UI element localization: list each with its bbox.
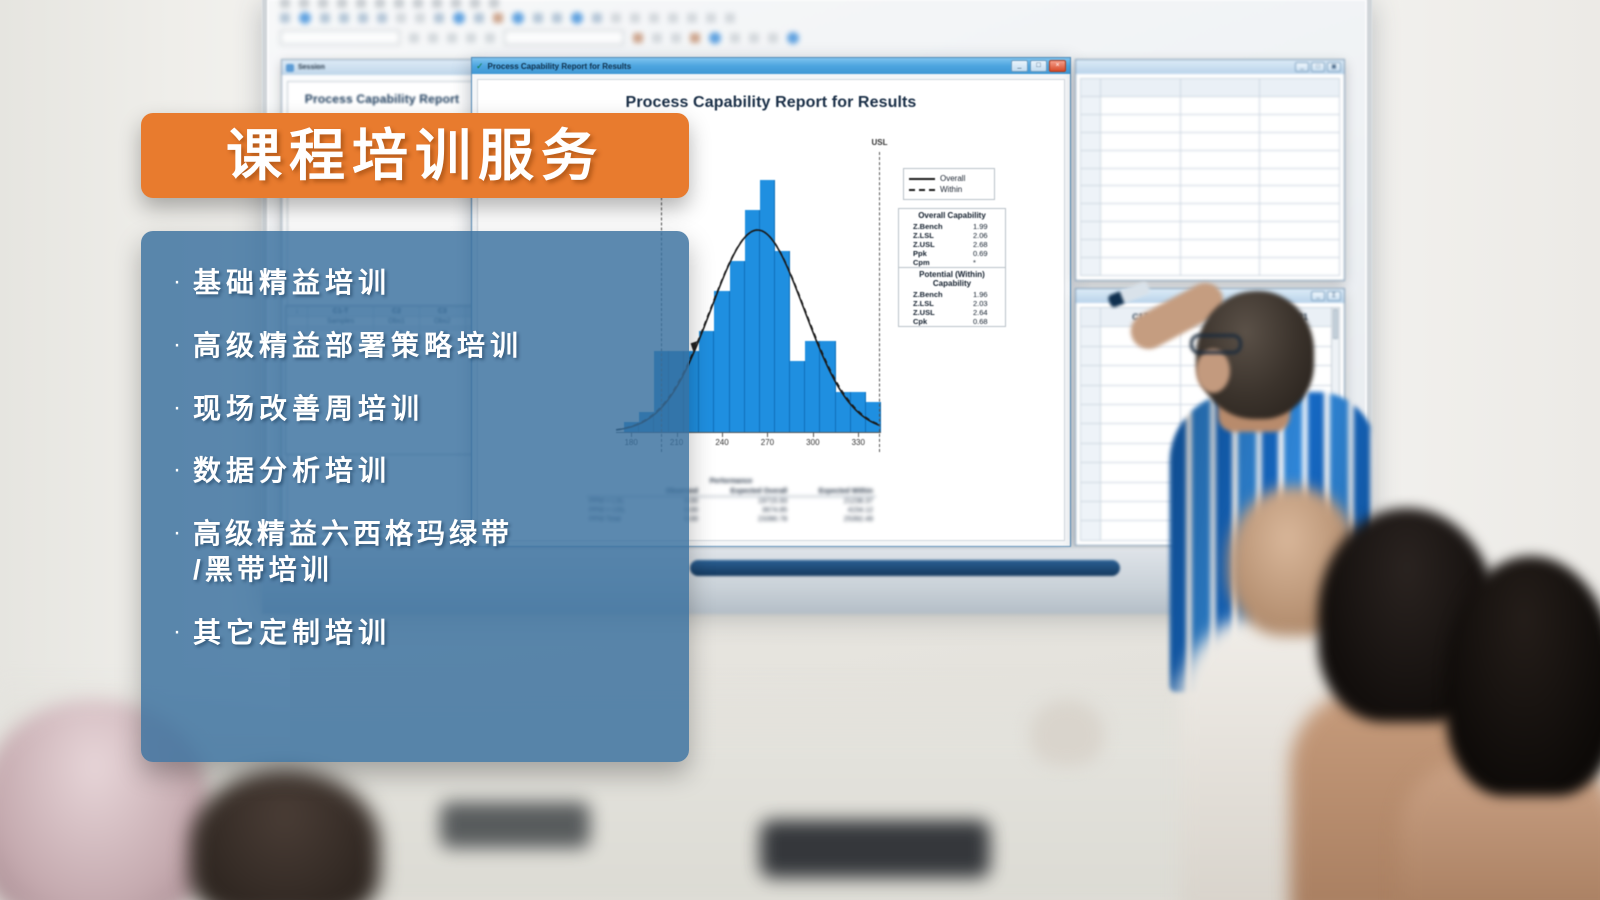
course-banner: 课程培训服务 <box>141 113 689 198</box>
capability-value: * <box>973 258 999 267</box>
ws-cell[interactable] <box>1180 150 1260 168</box>
capability-value: 2.64 <box>973 308 999 317</box>
checkmark-icon: ✓ <box>476 62 484 71</box>
legend-line-icon <box>909 189 935 191</box>
toolbar-dropdown-1[interactable] <box>280 30 400 45</box>
capability-row: Z.Bench 1.96 <box>899 290 1005 299</box>
cup-object <box>1030 700 1104 766</box>
bullet-icon: · <box>173 453 181 487</box>
ws-row[interactable] <box>1081 96 1340 114</box>
ws-row[interactable] <box>1081 222 1340 240</box>
list-item-label: 基础精益培训 <box>193 265 391 301</box>
ws-cell[interactable] <box>1180 114 1260 132</box>
graph-window-title: Process Capability Report for Results <box>488 62 632 71</box>
ws-cell[interactable] <box>1260 258 1340 276</box>
within-capability-rows: Z.Bench 1.96 Z.LSL 2.03 Z.USL 2.64 Cpk 0… <box>899 290 1005 326</box>
ws-cell[interactable] <box>1260 240 1340 258</box>
ws-cell[interactable] <box>1260 114 1340 132</box>
list-item-label: 高级精益六西格玛绿带/黑带培训 <box>193 516 513 588</box>
marker-tray <box>690 560 1120 576</box>
ws-cell[interactable] <box>1101 240 1181 258</box>
capability-row: Z.USL 2.68 <box>899 240 1005 249</box>
ws-cell[interactable] <box>1180 204 1260 222</box>
toolbar-menu-row[interactable] <box>280 0 499 8</box>
session-window-titlebar[interactable]: Session <box>282 60 482 75</box>
toolbar-dropdown-2[interactable] <box>504 30 624 45</box>
list-item-label: 数据分析培训 <box>193 453 391 489</box>
ws-cell[interactable] <box>1101 385 1181 404</box>
capability-row: Z.Bench 1.99 <box>899 222 1005 231</box>
ws-cell[interactable] <box>1180 222 1260 240</box>
capability-label: Ppk <box>913 249 973 258</box>
ws-cell[interactable] <box>1101 96 1181 114</box>
ws-cell[interactable] <box>1101 502 1181 521</box>
axis-tick <box>767 433 768 437</box>
ws-top-maximize-button[interactable]: ▣ <box>1327 62 1341 72</box>
bullet-icon: · <box>173 615 181 649</box>
bullet-icon: · <box>173 391 181 425</box>
session-window-title: Session <box>298 64 325 71</box>
ws-cell[interactable] <box>1180 258 1260 276</box>
legend-label: Overall <box>940 174 965 183</box>
ws-cell[interactable] <box>1260 132 1340 150</box>
ws-bottom-maximize-button[interactable]: Σ <box>1327 291 1341 301</box>
ws-cell[interactable] <box>1101 346 1181 365</box>
minimize-button[interactable]: _ <box>1011 60 1028 72</box>
ws-cell[interactable] <box>1180 240 1260 258</box>
spec-line <box>879 152 880 452</box>
perf-within: 4154.12 <box>790 506 876 515</box>
graph-window-titlebar[interactable]: ✓ Process Capability Report for Results … <box>472 58 1070 74</box>
capability-label: Z.LSL <box>913 231 973 240</box>
table-object-2 <box>440 802 590 848</box>
perf-overall: 3674.85 <box>701 506 790 515</box>
capability-value: 2.03 <box>973 299 999 308</box>
capability-label: Z.LSL <box>913 299 973 308</box>
worksheet-top-grid[interactable] <box>1080 78 1340 276</box>
capability-value: 0.68 <box>973 317 999 326</box>
ws-cell[interactable] <box>1260 168 1340 186</box>
ws-row[interactable] <box>1081 150 1340 168</box>
ws-cell[interactable] <box>1260 96 1340 114</box>
perf-within: 21238.37 <box>790 497 876 507</box>
ws-cell[interactable] <box>1101 114 1181 132</box>
capability-label: Cpk <box>913 317 973 326</box>
list-item-label: 高级精益部署策略培训 <box>193 328 523 364</box>
capability-label: Z.USL <box>913 240 973 249</box>
perf-col-header: Expected Overall <box>701 487 790 497</box>
capability-value: 0.69 <box>973 249 999 258</box>
ws-row[interactable] <box>1081 258 1340 276</box>
ws-cell[interactable] <box>1101 204 1181 222</box>
list-item: · 高级精益六西格玛绿带/黑带培训 <box>163 516 661 588</box>
ws-cell[interactable] <box>1101 405 1181 424</box>
ws-cell[interactable] <box>1101 463 1181 482</box>
ws-bottom-minimize-button[interactable]: _ <box>1311 291 1325 301</box>
ws-cell[interactable] <box>1260 222 1340 240</box>
ws-cell[interactable] <box>1101 222 1181 240</box>
table-object-1 <box>760 820 990 878</box>
capability-value: 1.99 <box>973 222 999 231</box>
capability-value: 2.06 <box>973 231 999 240</box>
ws-row[interactable] <box>1081 186 1340 204</box>
axis-tick-label: 240 <box>715 438 728 447</box>
legend-line-icon <box>909 178 935 180</box>
ws-cell[interactable] <box>1180 168 1260 186</box>
axis-tick <box>722 433 723 437</box>
within-capability-header: Potential (Within) Capability <box>899 267 1005 290</box>
ws-cell[interactable] <box>1101 521 1181 541</box>
chart-legend: Overall Within <box>903 168 995 200</box>
worksheet-window-top[interactable]: _ □ ▣ <box>1075 59 1345 281</box>
presenter-glasses <box>1190 334 1242 354</box>
ws-row[interactable] <box>1081 204 1340 222</box>
ws-cell[interactable] <box>1101 186 1181 204</box>
ws-row[interactable] <box>1081 132 1340 150</box>
perf-overall: 19715.93 <box>701 497 790 507</box>
spec-line-label: USL <box>871 138 887 147</box>
ws-cell[interactable] <box>1180 132 1260 150</box>
ws-cell[interactable] <box>1101 443 1181 462</box>
ws-cell[interactable] <box>1260 150 1340 168</box>
ws-cell[interactable] <box>1101 168 1181 186</box>
capability-row: Ppk 0.69 <box>899 249 1005 258</box>
course-list-panel: · 基础精益培训 · 高级精益部署策略培训 · 现场改善周培训 · 数据分析培训… <box>141 231 689 762</box>
ws-top-restore-button[interactable]: □ <box>1311 62 1325 72</box>
ws-cell[interactable] <box>1180 96 1260 114</box>
close-button[interactable]: × <box>1049 60 1066 72</box>
axis-tick-label: 270 <box>761 438 774 447</box>
legend-entry: Overall <box>909 174 989 183</box>
presenter-ear <box>1196 349 1230 393</box>
perf-col-header: Expected Within <box>790 487 876 497</box>
scrollbar-thumb[interactable] <box>1333 309 1338 339</box>
perf-overall: 23390.78 <box>701 515 790 524</box>
audience-3-head <box>1446 556 1600 796</box>
list-item: · 数据分析培训 <box>163 453 661 489</box>
overall-capability-rows: Z.Bench 1.99 Z.LSL 2.06 Z.USL 2.68 Ppk 0… <box>899 222 1005 267</box>
toolbar-icon-row[interactable] <box>280 12 735 24</box>
axis-tick <box>813 433 814 437</box>
capability-value: 1.96 <box>973 290 999 299</box>
capability-row: Z.LSL 2.06 <box>899 231 1005 240</box>
session-heading: Process Capability Report <box>294 92 470 106</box>
ws-corner <box>1081 308 1101 327</box>
capability-row: Cpk 0.68 <box>899 317 1005 326</box>
ws-cell[interactable] <box>1101 424 1181 443</box>
ws-row[interactable] <box>1081 168 1340 186</box>
perf-within: 25392.49 <box>790 515 876 524</box>
chart-title: Process Capability Report for Results <box>478 94 1064 112</box>
axis-tick-label: 330 <box>852 438 865 447</box>
banner-title: 课程培训服务 <box>226 128 604 184</box>
axis-tick-label: 300 <box>806 438 819 447</box>
list-item-label: 其它定制培训 <box>193 615 391 651</box>
ws-top-minimize-button[interactable]: _ <box>1295 62 1309 72</box>
capability-row: Cpm * <box>899 258 1005 267</box>
ws-row[interactable] <box>1081 240 1340 258</box>
list-item: · 其它定制培训 <box>163 615 661 651</box>
capability-value: 2.68 <box>973 240 999 249</box>
capability-stats-box: Overall Capability Z.Bench 1.99 Z.LSL 2.… <box>898 208 1006 327</box>
list-item: · 现场改善周培训 <box>163 391 661 427</box>
toolbar-controls-row[interactable] <box>280 30 799 45</box>
capability-label: Z.USL <box>913 308 973 317</box>
worksheet-top-titlebar[interactable]: _ □ ▣ <box>1076 60 1344 74</box>
ws-cell[interactable] <box>1101 258 1181 276</box>
ws-cell[interactable] <box>1101 366 1181 385</box>
legend-entry: Within <box>909 185 989 194</box>
ws-row[interactable] <box>1081 114 1340 132</box>
capability-label: Z.Bench <box>913 222 973 231</box>
ws-cell[interactable] <box>1101 150 1181 168</box>
ws-cell[interactable] <box>1180 186 1260 204</box>
capability-label: Cpm <box>913 258 973 267</box>
capability-label: Z.Bench <box>913 290 973 299</box>
ws-cell[interactable] <box>1260 186 1340 204</box>
list-item-label: 现场改善周培训 <box>193 391 424 427</box>
bullet-icon: · <box>173 265 181 299</box>
session-icon <box>286 64 294 72</box>
minitab-toolbar[interactable] <box>272 0 972 52</box>
capability-row: Z.USL 2.64 <box>899 308 1005 317</box>
maximize-button[interactable]: □ <box>1030 60 1047 72</box>
ws-cell[interactable] <box>1101 482 1181 501</box>
ws-cell[interactable] <box>1260 204 1340 222</box>
legend-label: Within <box>940 185 962 194</box>
bullet-icon: · <box>173 516 181 550</box>
course-list: · 基础精益培训 · 高级精益部署策略培训 · 现场改善周培训 · 数据分析培训… <box>163 265 661 651</box>
list-item: · 基础精益培训 <box>163 265 661 301</box>
capability-row: Z.LSL 2.03 <box>899 299 1005 308</box>
bullet-icon: · <box>173 328 181 362</box>
axis-tick <box>858 433 859 437</box>
overall-capability-header: Overall Capability <box>899 209 1005 222</box>
list-item: · 高级精益部署策略培训 <box>163 328 661 364</box>
ws-cell[interactable] <box>1101 132 1181 150</box>
